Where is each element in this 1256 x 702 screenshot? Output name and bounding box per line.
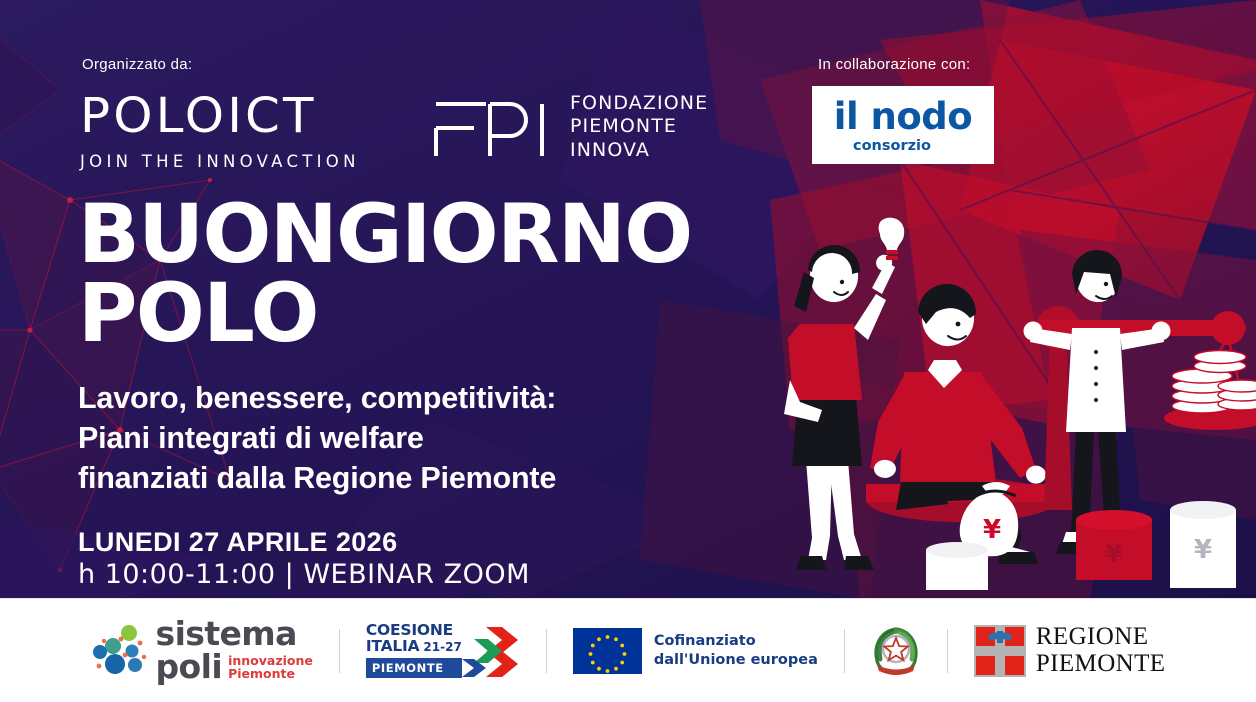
banner-copy: BUONGIORNO POLO Lavoro, benessere, compe… bbox=[78, 196, 818, 592]
footer-divider-4 bbox=[947, 629, 948, 673]
regione-piemonte-emblem-icon bbox=[974, 625, 1026, 677]
sponsor-footer: sistema poli innovazione Piemonte COESIO… bbox=[0, 598, 1256, 702]
footer-slot-republic bbox=[871, 625, 921, 677]
footer-divider-3 bbox=[844, 629, 845, 673]
footer-slot-eu: Cofinanziato dall'Unione europea bbox=[573, 628, 818, 674]
fpi-name: FONDAZIONE PIEMONTE INNOVA bbox=[570, 92, 708, 162]
eu-funding-text: Cofinanziato dall'Unione europea bbox=[654, 632, 818, 669]
footer-divider-2 bbox=[546, 629, 547, 673]
italian-republic-emblem-icon bbox=[871, 625, 921, 677]
collaboration-label: In collaborazione con: bbox=[818, 56, 971, 73]
logo-poloict: POLOICT JOIN THE INNOVACTION bbox=[80, 92, 360, 171]
event-date: LUNEDI 27 APRILE 2026 bbox=[78, 526, 818, 559]
poloict-wordmark: POLOICT bbox=[80, 92, 371, 140]
event-subtitle: Lavoro, benessere, competitività: Piani … bbox=[78, 379, 818, 499]
poloict-tagline: JOIN THE INNOVACTION bbox=[80, 154, 360, 171]
logo-il-nodo: il nodo consorzio bbox=[812, 86, 994, 164]
coin-stacks bbox=[1172, 351, 1256, 414]
people-finance-illustration: ¥ ¥ ¥ bbox=[776, 200, 1256, 600]
logo-fondazione-piemonte-innova: FONDAZIONE PIEMONTE INNOVA bbox=[432, 92, 708, 162]
logo-regione-piemonte: REGIONE PIEMONTE bbox=[974, 624, 1166, 677]
sistemapoli-line2: poli bbox=[156, 650, 223, 683]
footer-slot-coesione: COESIONE ITALIA 21-27 PIEMONTE bbox=[366, 623, 520, 679]
footer-divider-1 bbox=[339, 629, 340, 673]
sistemapoli-line1: sistema bbox=[156, 618, 313, 650]
event-banner: ¥ ¥ ¥ Organizzato da: POLOICT JOIN THE I… bbox=[0, 0, 1256, 702]
organizers-label: Organizzato da: bbox=[82, 56, 192, 73]
sistemapoli-dots-icon bbox=[91, 624, 147, 676]
footer-slot-regione: REGIONE PIEMONTE bbox=[974, 624, 1166, 677]
coesione-chevrons-icon bbox=[462, 625, 520, 677]
svg-text:¥: ¥ bbox=[1194, 535, 1212, 565]
coesione-region-badge: PIEMONTE bbox=[366, 658, 462, 678]
ilnodo-wordmark: il nodo bbox=[834, 98, 972, 135]
svg-text:¥: ¥ bbox=[983, 515, 1001, 545]
coesione-years: 21-27 bbox=[423, 640, 461, 654]
footer-slot-sistemapoli: sistema poli innovazione Piemonte bbox=[91, 618, 313, 683]
fpi-monogram-icon bbox=[432, 94, 556, 160]
sistemapoli-tagline: innovazione Piemonte bbox=[228, 654, 313, 684]
event-title: BUONGIORNO POLO bbox=[78, 196, 818, 353]
ilnodo-sublabel: consorzio bbox=[853, 139, 931, 154]
logo-coesione-italia: COESIONE ITALIA 21-27 PIEMONTE bbox=[366, 623, 520, 679]
eu-flag-icon bbox=[573, 628, 642, 674]
logo-sistema-poli: sistema poli innovazione Piemonte bbox=[91, 618, 313, 683]
logo-european-union: Cofinanziato dall'Unione europea bbox=[573, 628, 818, 674]
coesione-line2: ITALIA bbox=[366, 639, 420, 655]
event-time-channel: h 10:00-11:00 | WEBINAR ZOOM bbox=[78, 559, 818, 592]
svg-text:¥: ¥ bbox=[1106, 540, 1123, 568]
regione-piemonte-name: REGIONE PIEMONTE bbox=[1036, 624, 1166, 677]
banner-header: Organizzato da: POLOICT JOIN THE INNOVAC… bbox=[0, 0, 1256, 180]
